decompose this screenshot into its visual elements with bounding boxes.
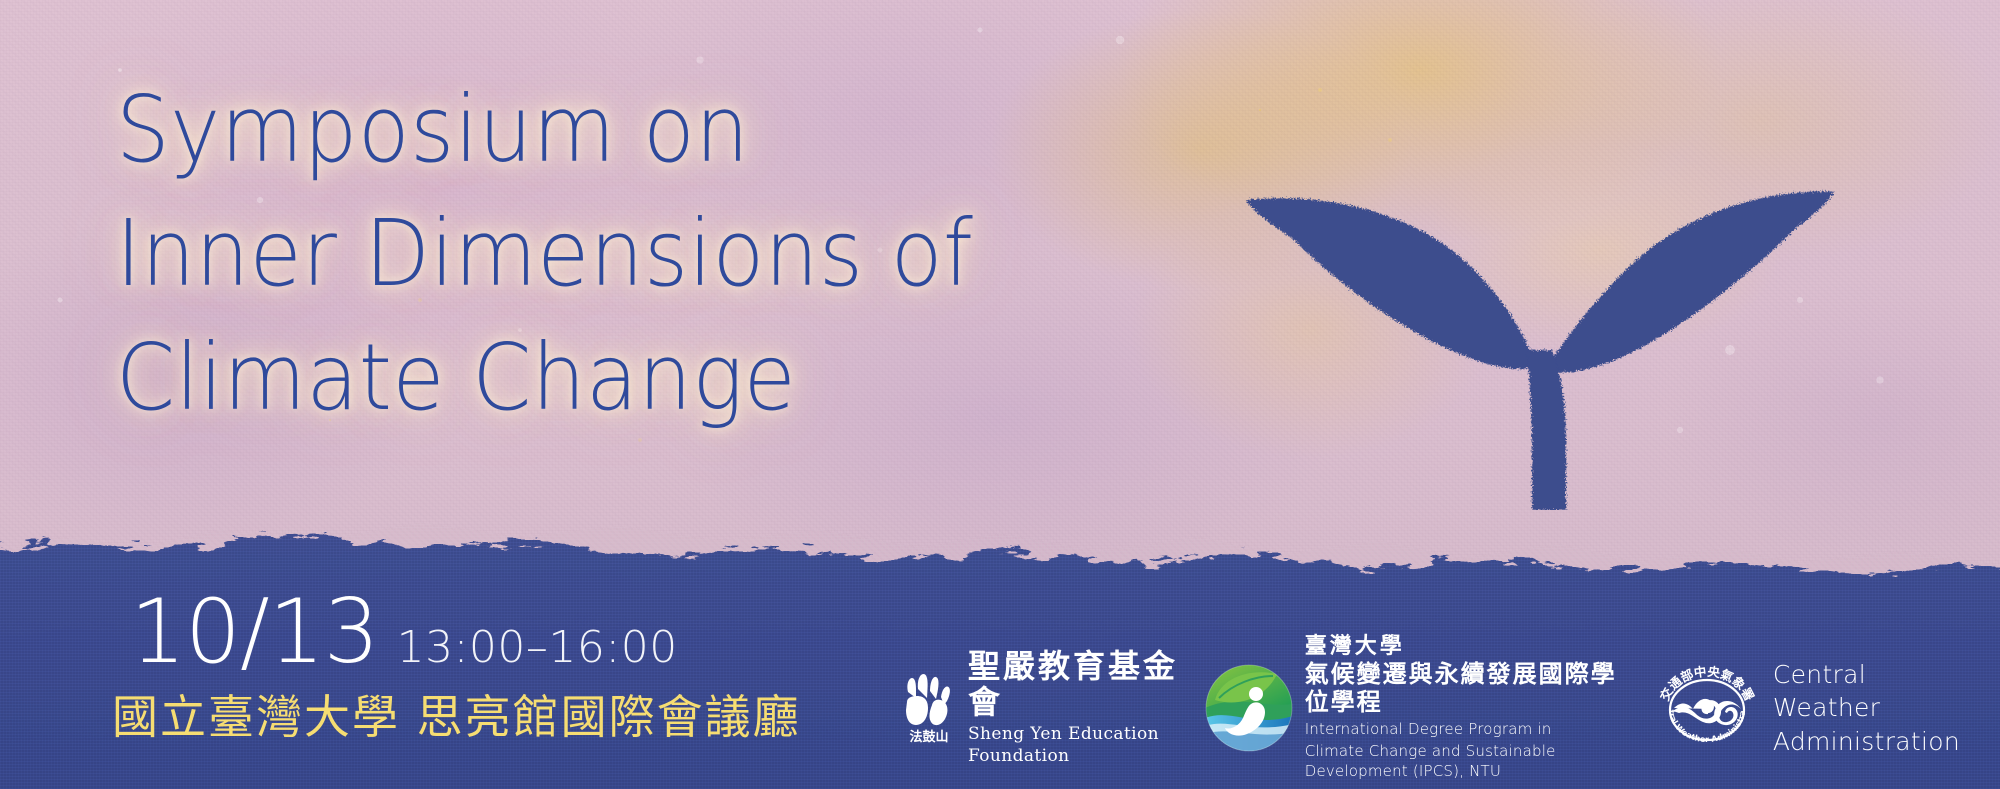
event-time: 13:00–16:00 [397, 626, 678, 670]
cwa-name-en-line2: Weather [1773, 691, 1960, 725]
title-line-2: Inner Dimensions of [116, 192, 973, 316]
title-line-1: Symposium on [116, 68, 973, 192]
logo-sheng-yen-education-foundation: 法鼓山 聖嚴教育基金會 Sheng Yen Education Foundati… [900, 649, 1179, 767]
sheng-yen-name-en: Sheng Yen Education Foundation [968, 723, 1179, 767]
event-banner: Symposium on Inner Dimensions of Climate… [0, 0, 2000, 789]
sponsor-logo-row: 法鼓山 聖嚴教育基金會 Sheng Yen Education Foundati… [900, 648, 1960, 768]
ipcs-name-cn-line2: 氣候變遷與永續發展國際學位學程 [1305, 660, 1625, 717]
event-venue: 國立臺灣大學 思亮館國際會議廳 [112, 690, 801, 745]
event-date: 10/13 [130, 588, 379, 676]
dharma-drum-mountain-hand-icon: 法鼓山 [900, 671, 958, 745]
ipcs-name-cn-line1: 臺灣大學 [1305, 634, 1625, 660]
ipcs-name-en-line1: International Degree Program in [1305, 720, 1625, 740]
logo-ipcs-ntu: 臺灣大學 氣候變遷與永續發展國際學位學程 International Degre… [1205, 634, 1625, 782]
page-title: Symposium on Inner Dimensions of Climate… [116, 68, 973, 440]
ipcs-name-en-line2: Climate Change and Sustainable Developme… [1305, 742, 1625, 782]
sheng-yen-name-cn: 聖嚴教育基金會 [968, 649, 1179, 721]
title-line-3: Climate Change [116, 316, 973, 440]
svg-text:法鼓山: 法鼓山 [909, 729, 948, 745]
cwa-name-en-line3: Administration [1773, 725, 1960, 759]
cwa-name-en-line1: Central [1773, 658, 1960, 692]
cwa-seal-wind-cloud-icon: 交通部中央氣象署 Central Weather Administration [1655, 656, 1759, 760]
logo-central-weather-administration: 交通部中央氣象署 Central Weather Administration … [1655, 656, 1960, 760]
ipcs-leaf-figure-wave-icon [1205, 664, 1293, 752]
svg-text:交通部中央氣象署: 交通部中央氣象署 [1657, 664, 1757, 704]
event-datetime: 10/13 13:00–16:00 [130, 588, 678, 676]
